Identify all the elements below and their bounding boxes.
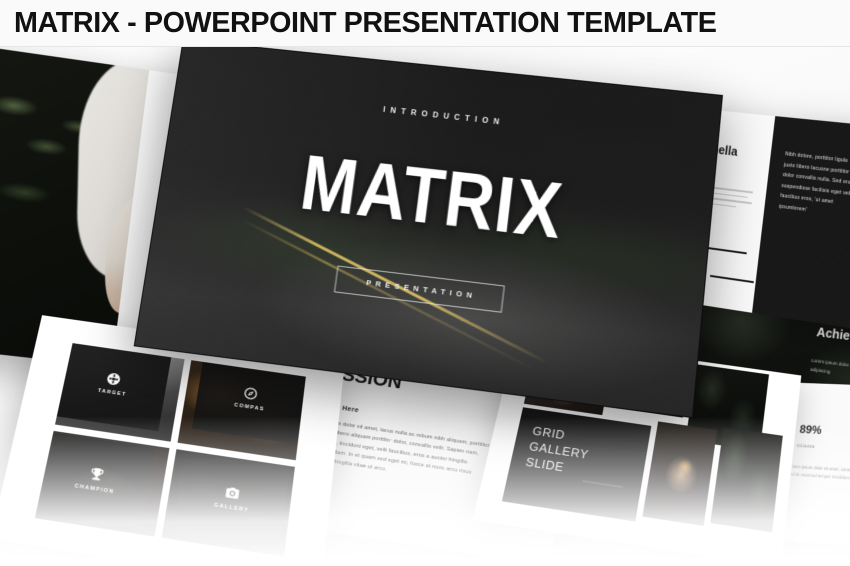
slide-mockup-stage: WELCOME TO MATRIX Pamella	[0, 47, 850, 566]
tile-label: COMPAS	[232, 402, 264, 412]
tile-overlay: GALLERY	[173, 451, 290, 549]
tile-target[interactable]: TARGET	[55, 343, 185, 442]
testimonial-rule	[704, 246, 748, 254]
tile-overlay: CHAMPION	[35, 432, 156, 529]
hero-title: MATRIX	[194, 132, 673, 264]
testimonial-quote: Nibh dolore, porttitor ligula justo libe…	[778, 149, 850, 220]
compass-icon	[242, 386, 258, 401]
gallery-title-panel: GRID GALLERY SLIDE	[502, 407, 652, 522]
achievement-title: Achievement	[816, 324, 850, 348]
gallery-photo[interactable]	[710, 427, 783, 533]
gallery-photo[interactable]	[642, 421, 717, 526]
tile-overlay: COMPAS	[192, 360, 305, 445]
tile-compas[interactable]: COMPAS	[178, 360, 305, 460]
tile-gallery[interactable]: GALLERY	[162, 449, 294, 556]
target-icon	[106, 371, 123, 386]
camera-icon	[224, 485, 241, 502]
hero-badge: PRESENTATION	[333, 265, 505, 312]
gallery-underline	[582, 480, 622, 488]
tile-champion[interactable]: CHAMPION	[35, 431, 170, 537]
tile-label: CHAMPION	[73, 483, 115, 495]
stats-value: 89%	[799, 423, 823, 437]
stats-body-text: Lorem ipsum dolor sit amet, consectetur …	[787, 463, 850, 486]
screenshot-root: MATRIX - POWERPOINT PRESENTATION TEMPLAT…	[0, 0, 850, 566]
page-title: MATRIX - POWERPOINT PRESENTATION TEMPLAT…	[14, 7, 717, 40]
hero-badge-label: PRESENTATION	[361, 278, 477, 301]
tile-label: GALLERY	[212, 503, 249, 514]
testimonial-rule	[710, 275, 754, 283]
tile-overlay: TARGET	[55, 343, 172, 431]
tile-label: TARGET	[96, 388, 127, 398]
trophy-icon	[88, 466, 106, 482]
gallery-heading: GRID GALLERY SLIDE	[524, 424, 593, 479]
tiles-grid: TARGET COMPAS	[35, 343, 305, 556]
stats-label: Clients	[797, 444, 816, 450]
page-header: MATRIX - POWERPOINT PRESENTATION TEMPLAT…	[0, 0, 850, 47]
